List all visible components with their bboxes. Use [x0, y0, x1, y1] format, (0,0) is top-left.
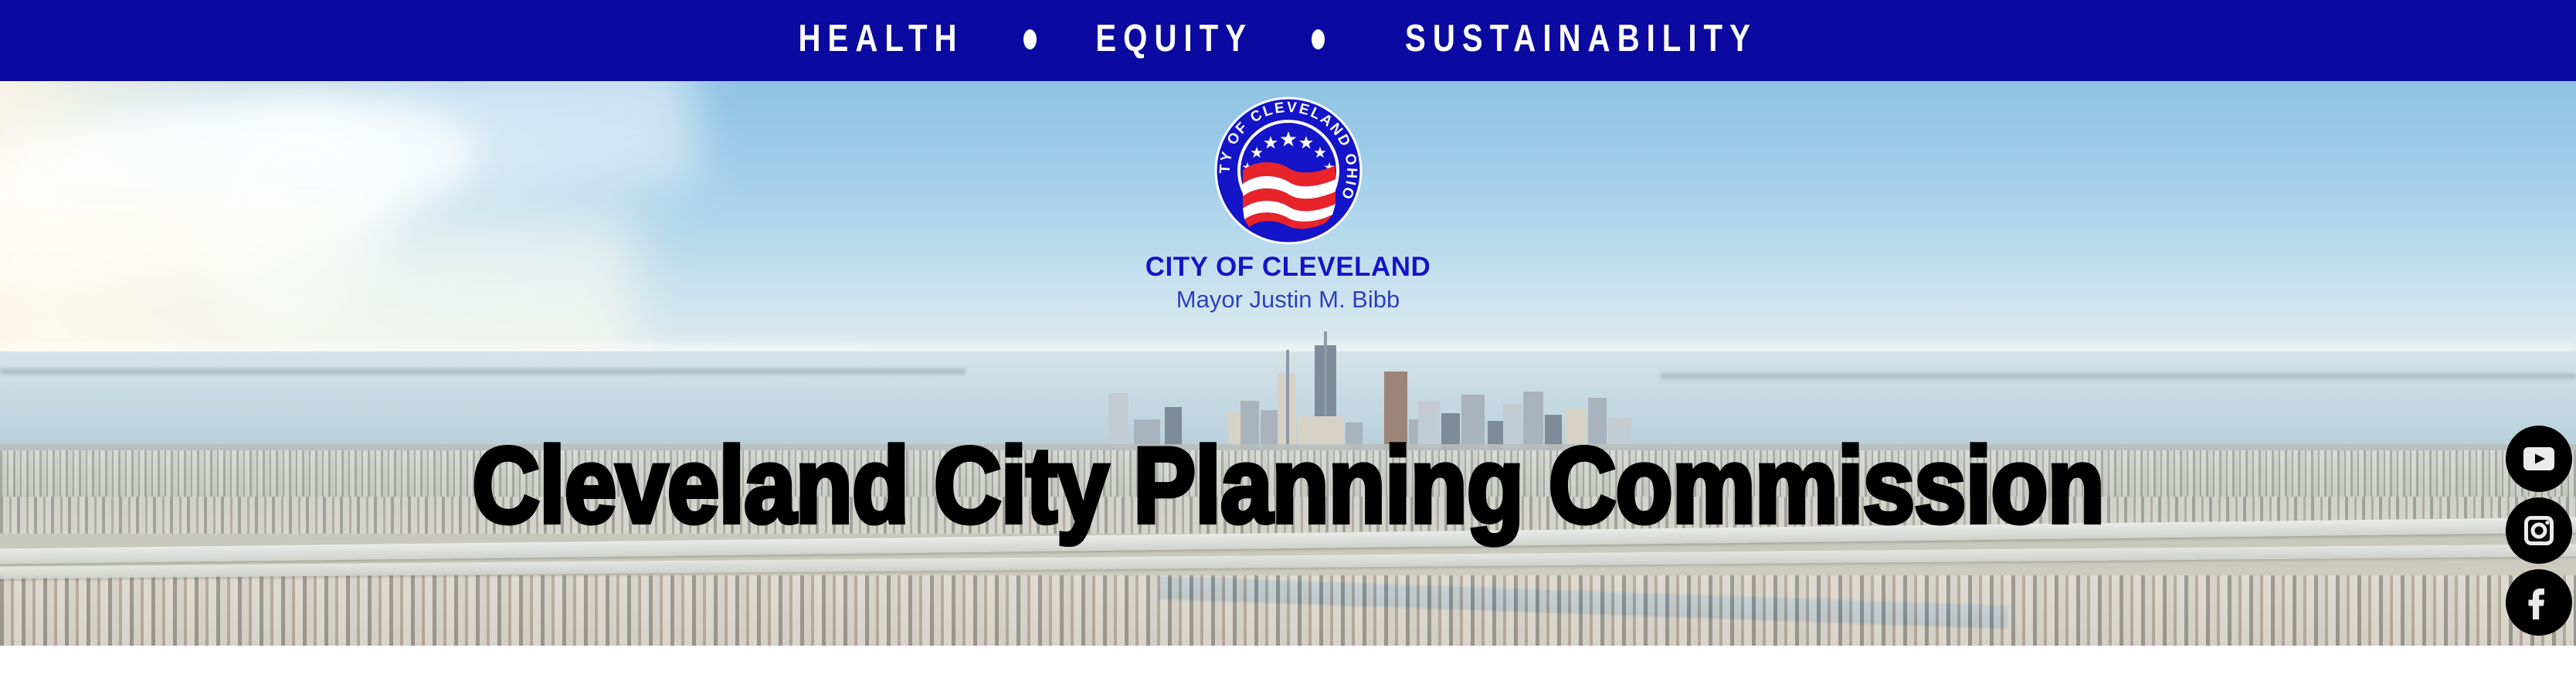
city-brand-lockup: CITY OF CLEVELAND OHIO — [1018, 91, 1559, 314]
tagline-separator-dot-2 — [1312, 29, 1325, 49]
instagram-link[interactable] — [2506, 497, 2572, 564]
lockup-subtitle: Mayor Justin M. Bibb — [1018, 285, 1559, 314]
tagline-banner-inner: HEALTH EQUITY SUSTAINABILITY — [780, 20, 1796, 58]
instagram-icon — [2519, 511, 2559, 551]
youtube-link[interactable] — [2506, 426, 2572, 492]
tagline-word-equity: EQUITY — [1095, 20, 1253, 58]
foreground-texture — [0, 575, 2576, 646]
far-shoreline — [0, 368, 966, 375]
page-root: HEALTH EQUITY SUSTAINABILITY — [0, 0, 2576, 682]
social-media-rail — [2505, 426, 2573, 636]
foreground-texture — [0, 450, 2576, 497]
facebook-icon — [2519, 582, 2559, 623]
tagline-word-health: HEALTH — [798, 20, 963, 58]
lockup-title: CITY OF CLEVELAND — [1018, 253, 1559, 282]
facebook-link[interactable] — [2506, 569, 2572, 636]
youtube-icon — [2519, 439, 2559, 479]
far-shoreline — [1661, 373, 2576, 379]
tagline-banner: HEALTH EQUITY SUSTAINABILITY — [0, 0, 2576, 81]
city-of-cleveland-seal: CITY OF CLEVELAND OHIO — [1209, 91, 1368, 250]
tagline-separator-dot-1 — [1023, 29, 1037, 49]
tagline-word-sustainability: SUSTAINABILITY — [1405, 20, 1757, 58]
